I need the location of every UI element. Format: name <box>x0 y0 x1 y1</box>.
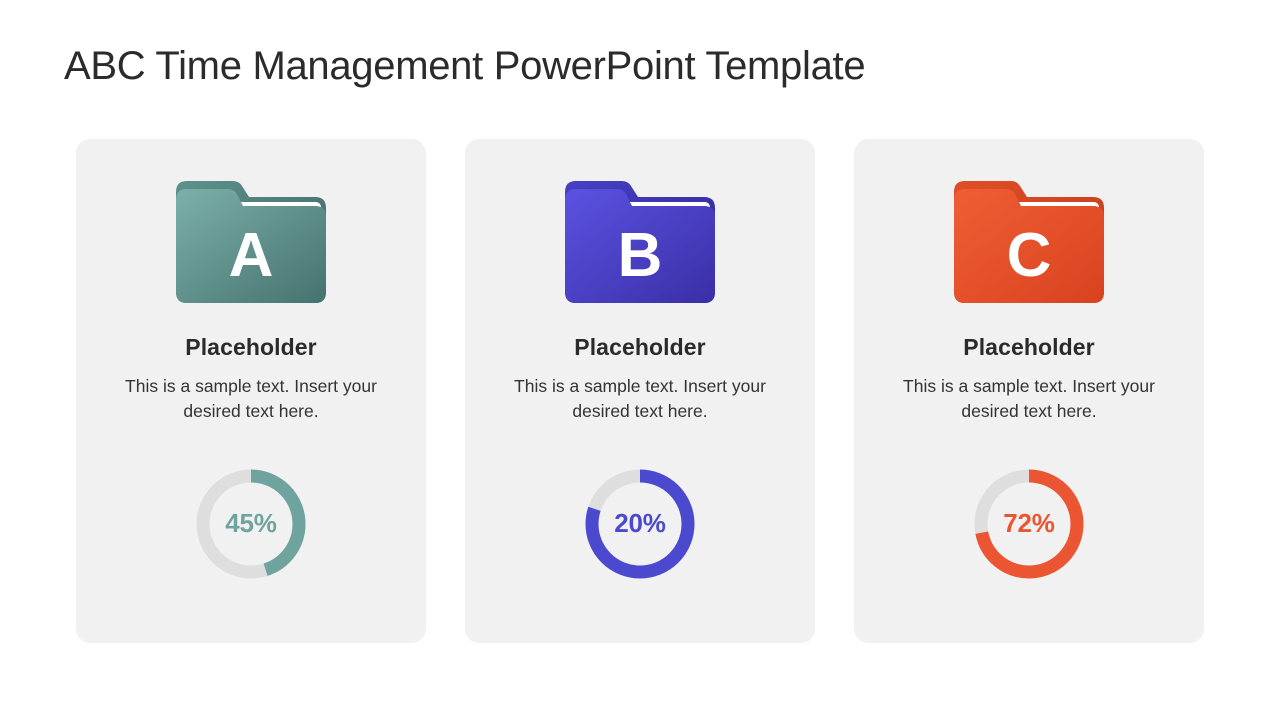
card-c[interactable]: C Placeholder This is a sample text. Ins… <box>854 139 1204 643</box>
folder-letter-c: C <box>1007 221 1052 290</box>
card-heading-a: Placeholder <box>185 334 317 361</box>
page-title: ABC Time Management PowerPoint Template <box>64 44 865 88</box>
card-body-c: This is a sample text. Insert your desir… <box>895 374 1163 425</box>
donut-chart-b: 20% <box>585 469 695 579</box>
card-body-b: This is a sample text. Insert your desir… <box>506 374 774 425</box>
card-a[interactable]: A Placeholder This is a sample text. Ins… <box>76 139 426 643</box>
folder-letter-b: B <box>618 221 663 290</box>
folder-b-icon: B <box>565 180 715 304</box>
folder-letter-a: A <box>229 221 274 290</box>
card-b[interactable]: B Placeholder This is a sample text. Ins… <box>465 139 815 643</box>
card-heading-b: Placeholder <box>574 334 706 361</box>
slide-canvas: ABC Time Management PowerPoint Template <box>0 0 1280 720</box>
cards-row: A Placeholder This is a sample text. Ins… <box>76 139 1204 643</box>
folder-a-icon: A <box>176 180 326 304</box>
donut-chart-c: 72% <box>974 469 1084 579</box>
donut-chart-a: 45% <box>196 469 306 579</box>
folder-c-icon: C <box>954 180 1104 304</box>
donut-value-c: 72% <box>974 469 1084 579</box>
card-body-a: This is a sample text. Insert your desir… <box>117 374 385 425</box>
donut-value-b: 20% <box>585 469 695 579</box>
donut-value-a: 45% <box>196 469 306 579</box>
card-heading-c: Placeholder <box>963 334 1095 361</box>
